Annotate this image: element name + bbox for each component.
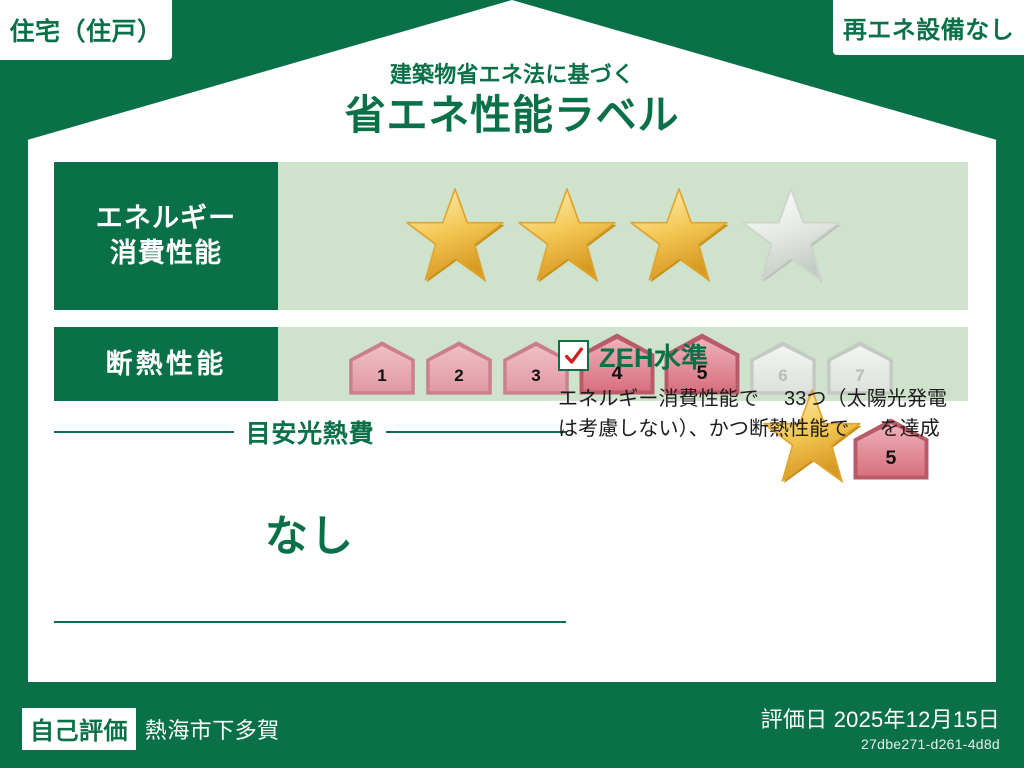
star-filled-icon <box>402 185 508 287</box>
house-level-number: 2 <box>454 366 464 385</box>
inline-star-icon <box>759 386 784 410</box>
renewable-energy-badge: 再エネ設備なし <box>833 0 1024 55</box>
evaluation-date-value: 2025年12月15日 <box>834 707 1000 732</box>
cost-section-bottom-rule <box>54 621 566 623</box>
evaluation-date: 評価日 2025年12月15日 <box>761 702 1000 734</box>
inline-house-level-icon: 5 <box>850 417 880 440</box>
zeh-heading: ZEH水準 <box>558 336 958 375</box>
zeh-title: ZEH水準 <box>599 336 708 375</box>
energy-performance-value <box>278 162 968 310</box>
zeh-standard-block: ZEH水準 エネルギー消費性能で33つ（太陽光発電は考慮しない）、かつ断熱性能で… <box>558 336 958 445</box>
energy-performance-label: 住宅（住戸） 再エネ設備なし 建築物省エネ法に基づく 省エネ性能ラベル エネルギ… <box>0 0 1024 768</box>
house-level-filled-icon: 2 <box>422 340 496 396</box>
cost-header-rule-right <box>386 431 566 433</box>
utility-cost-header: 目安光熱費 <box>54 414 566 450</box>
insulation-performance-label: 断熱性能 <box>54 327 278 401</box>
zeh-desc-part3: を達成 <box>880 418 940 440</box>
page-title: 省エネ性能ラベル <box>0 90 1024 141</box>
title-subtitle: 建築物省エネ法に基づく <box>0 62 1024 88</box>
label-title-block: 建築物省エネ法に基づく 省エネ性能ラベル <box>0 62 1024 142</box>
star-filled-icon <box>626 185 732 287</box>
star-empty-icon <box>738 185 844 287</box>
house-level-number: 5 <box>885 447 896 469</box>
building-type-badge: 住宅（住戸） <box>0 0 172 60</box>
star-filled-icon <box>514 185 620 287</box>
property-location: 熱海市下多賀 <box>145 713 280 745</box>
house-level-number: 3 <box>531 366 541 385</box>
star-rating <box>402 185 844 287</box>
label-panel-content: エネルギー 消費性能 断熱性能 1234567 目安光熱費 なし <box>28 140 996 682</box>
footer-left: 自己評価 熱海市下多賀 <box>22 708 280 750</box>
footer-right: 評価日 2025年12月15日 27dbe271-d261-4d8d <box>761 702 1000 752</box>
building-type-badge-label: 住宅（住戸） <box>9 12 162 48</box>
house-level-filled-icon: 1 <box>345 340 419 396</box>
zeh-star-count: 3 <box>784 388 795 410</box>
renewable-energy-badge-label: 再エネ設備なし <box>843 10 1014 45</box>
energy-label-line1: エネルギー <box>96 201 236 236</box>
energy-label-line2: 消費性能 <box>110 236 222 271</box>
evaluation-id: 27dbe271-d261-4d8d <box>761 736 1000 752</box>
insulation-label-text: 断熱性能 <box>106 347 227 382</box>
zeh-description: エネルギー消費性能で33つ（太陽光発電は考慮しない）、かつ断熱性能で5を達成 <box>558 384 958 445</box>
evaluation-date-label: 評価日 <box>761 707 828 732</box>
zeh-checkbox <box>558 340 589 371</box>
evaluation-type-badge: 自己評価 <box>22 708 136 750</box>
check-icon <box>563 345 585 367</box>
utility-cost-value: なし <box>54 502 566 564</box>
energy-performance-label: エネルギー 消費性能 <box>54 162 278 310</box>
cost-header-rule-left <box>54 431 234 433</box>
house-level-number: 1 <box>377 366 387 385</box>
zeh-desc-part1: エネルギー消費性能で <box>558 388 759 410</box>
energy-performance-row: エネルギー 消費性能 <box>54 162 968 310</box>
utility-cost-title: 目安光熱費 <box>246 414 375 450</box>
